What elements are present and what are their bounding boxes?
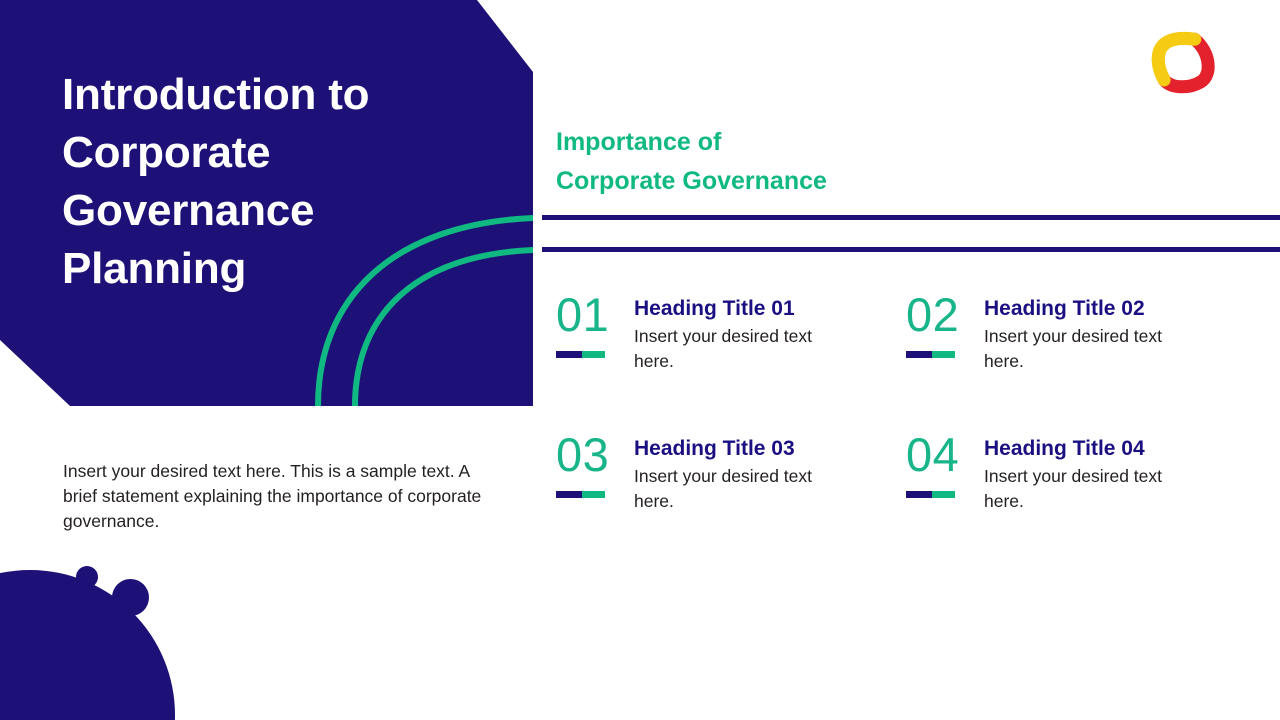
feature-item-description: Insert your desired text here. bbox=[984, 464, 1189, 514]
feature-item-body: Heading Title 04 Insert your desired tex… bbox=[984, 432, 1189, 514]
feature-item-04[interactable]: 04 Heading Title 04 Insert your desired … bbox=[906, 432, 1256, 514]
feature-item-description: Insert your desired text here. bbox=[984, 324, 1189, 374]
section-heading-line-1: Importance of bbox=[556, 123, 1196, 162]
divider-rule-bottom bbox=[542, 247, 1280, 252]
feature-item-title: Heading Title 04 bbox=[984, 435, 1189, 462]
feature-item-bar bbox=[906, 351, 955, 358]
feature-item-marker: 03 bbox=[556, 432, 634, 514]
feature-item-body: Heading Title 01 Insert your desired tex… bbox=[634, 292, 839, 374]
feature-item-row: 03 Heading Title 03 Insert your desired … bbox=[556, 432, 1256, 514]
feature-item-marker: 01 bbox=[556, 292, 634, 374]
feature-items-grid: 01 Heading Title 01 Insert your desired … bbox=[556, 292, 1256, 514]
decorative-circle-large bbox=[0, 570, 175, 720]
decorative-circle-medium bbox=[112, 579, 149, 616]
feature-item-bar bbox=[556, 351, 605, 358]
feature-item-body: Heading Title 02 Insert your desired tex… bbox=[984, 292, 1189, 374]
intro-paragraph: Insert your desired text here. This is a… bbox=[63, 459, 495, 534]
bar-segment-navy bbox=[906, 351, 932, 358]
feature-item-marker: 04 bbox=[906, 432, 984, 514]
decorative-circle-small bbox=[76, 566, 98, 588]
bar-segment-teal bbox=[582, 351, 605, 358]
section-heading: Importance of Corporate Governance bbox=[556, 123, 1196, 201]
feature-item-body: Heading Title 03 Insert your desired tex… bbox=[634, 432, 839, 514]
feature-item-title: Heading Title 03 bbox=[634, 435, 839, 462]
feature-item-02[interactable]: 02 Heading Title 02 Insert your desired … bbox=[906, 292, 1256, 374]
bar-segment-navy bbox=[556, 351, 582, 358]
feature-item-bar bbox=[906, 491, 955, 498]
slide-canvas: Introduction to Corporate Governance Pla… bbox=[0, 0, 1280, 720]
feature-item-bar bbox=[556, 491, 605, 498]
feature-item-number: 02 bbox=[906, 292, 984, 338]
feature-item-number: 04 bbox=[906, 432, 984, 478]
feature-item-03[interactable]: 03 Heading Title 03 Insert your desired … bbox=[556, 432, 906, 514]
feature-item-title: Heading Title 02 bbox=[984, 295, 1189, 322]
feature-item-number: 01 bbox=[556, 292, 634, 338]
page-title: Introduction to Corporate Governance Pla… bbox=[62, 66, 492, 298]
bar-segment-teal bbox=[932, 491, 955, 498]
feature-item-description: Insert your desired text here. bbox=[634, 324, 839, 374]
bar-segment-teal bbox=[582, 491, 605, 498]
feature-item-description: Insert your desired text here. bbox=[634, 464, 839, 514]
bar-segment-teal bbox=[932, 351, 955, 358]
section-heading-line-2: Corporate Governance bbox=[556, 162, 1196, 201]
feature-item-row: 01 Heading Title 01 Insert your desired … bbox=[556, 292, 1256, 374]
feature-item-marker: 02 bbox=[906, 292, 984, 374]
bar-segment-navy bbox=[906, 491, 932, 498]
divider-rule-top bbox=[542, 215, 1280, 220]
bar-segment-navy bbox=[556, 491, 582, 498]
feature-item-01[interactable]: 01 Heading Title 01 Insert your desired … bbox=[556, 292, 906, 374]
feature-item-title: Heading Title 01 bbox=[634, 295, 839, 322]
abstract-ring-logo-icon bbox=[1148, 27, 1220, 99]
feature-item-number: 03 bbox=[556, 432, 634, 478]
